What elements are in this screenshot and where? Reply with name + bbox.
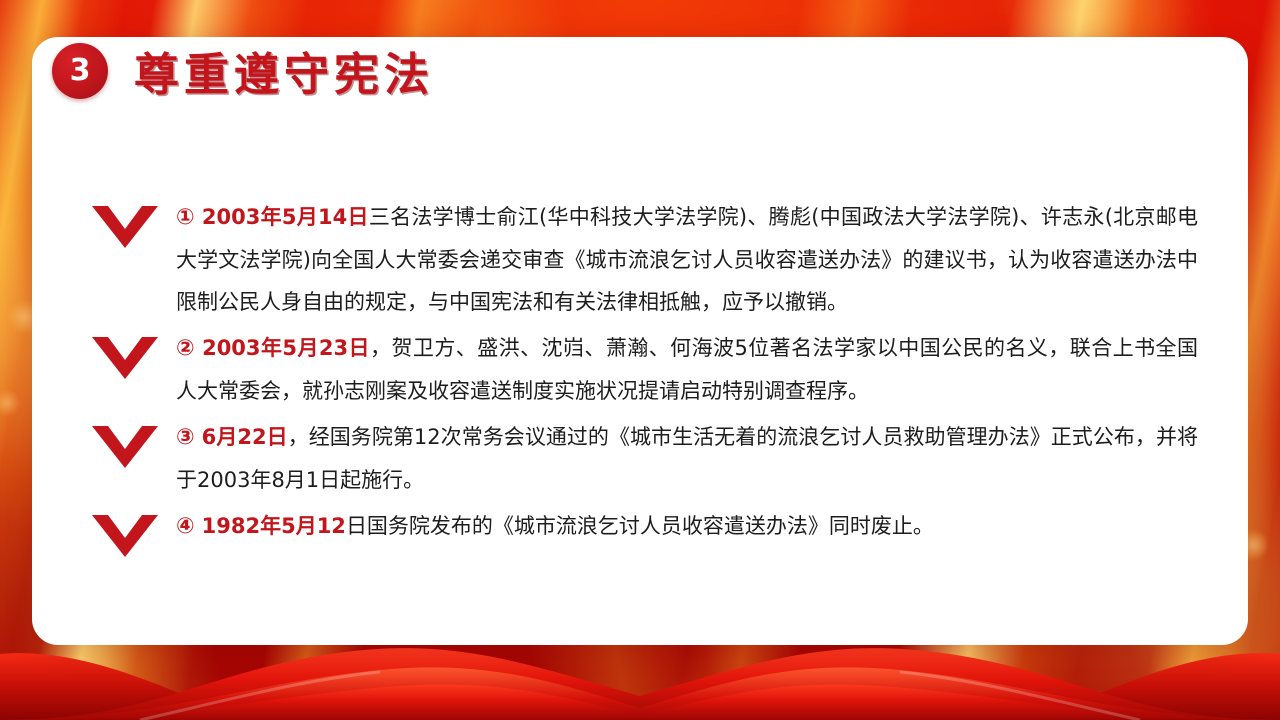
slide-header: 3 尊重遵守宪法 [52, 38, 434, 103]
list-item-body: ②2003年5月23日，贺卫方、盛洪、沈岿、萧瀚、何海波5位著名法学家以中国公民… [176, 327, 1198, 412]
bullet-list: ①2003年5月14日三名法学博士俞江(华中科技大学法学院)、腾彪(中国政法大学… [88, 196, 1198, 552]
chevron-down-icon [88, 202, 162, 252]
list-item-highlight: 2003年5月14日 [202, 205, 369, 229]
list-item-highlight: 2003年5月23日 [202, 336, 370, 360]
chevron-down-icon [88, 333, 162, 383]
slide-root: 3 尊重遵守宪法 ①2003年5月14日三名法学博士俞江(华中科技大学法学院)、… [0, 0, 1280, 720]
list-item-text: ，经国务院第12次常务会议通过的《城市生活无着的流浪乞讨人员救助管理办法》正式公… [176, 425, 1198, 492]
list-item-body: ④1982年5月12日国务院发布的《城市流浪乞讨人员收容遣送办法》同时废止。 [176, 505, 1198, 548]
list-item-body: ③6月22日，经国务院第12次常务会议通过的《城市生活无着的流浪乞讨人员救助管理… [176, 416, 1198, 501]
page-title: 尊重遵守宪法 [134, 38, 434, 103]
list-item: ③6月22日，经国务院第12次常务会议通过的《城市生活无着的流浪乞讨人员救助管理… [88, 416, 1198, 501]
chevron-down-icon [88, 422, 162, 472]
list-item-text: 日国务院发布的《城市流浪乞讨人员收容遣送办法》同时废止。 [346, 514, 934, 538]
list-item-marker: ② [176, 336, 195, 361]
list-item-marker: ③ [176, 425, 195, 450]
list-item-marker: ① [176, 205, 195, 230]
list-item-marker: ④ [176, 514, 195, 539]
list-item: ①2003年5月14日三名法学博士俞江(华中科技大学法学院)、腾彪(中国政法大学… [88, 196, 1198, 323]
list-item-highlight: 1982年5月12 [202, 514, 346, 538]
list-item-body: ①2003年5月14日三名法学博士俞江(华中科技大学法学院)、腾彪(中国政法大学… [176, 196, 1198, 323]
list-item-highlight: 6月22日 [202, 425, 288, 449]
list-item: ②2003年5月23日，贺卫方、盛洪、沈岿、萧瀚、何海波5位著名法学家以中国公民… [88, 327, 1198, 412]
list-item: ④1982年5月12日国务院发布的《城市流浪乞讨人员收容遣送办法》同时废止。 [88, 505, 1198, 548]
chevron-down-icon [88, 511, 162, 561]
section-number-badge: 3 [52, 43, 108, 99]
